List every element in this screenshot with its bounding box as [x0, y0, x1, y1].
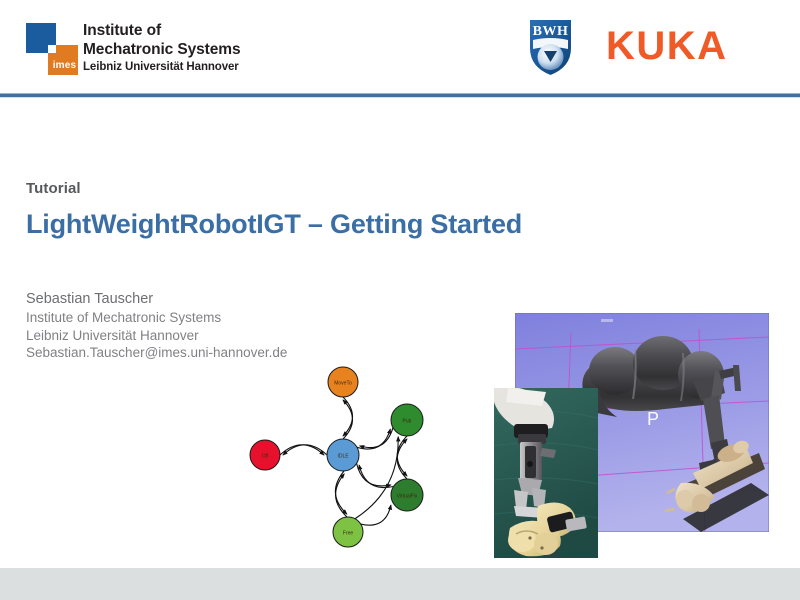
slide-header: imes Institute of Mechatronic Systems Le… [0, 0, 800, 95]
bwh-label: BWH [527, 24, 574, 40]
state-node-off: Off [250, 440, 280, 470]
state-edge [336, 474, 347, 517]
state-edge [343, 400, 352, 439]
state-node-label: IDLE [337, 453, 349, 459]
surgery-photo [494, 388, 598, 558]
state-transition-diagram: MoveToOffIDLEPubVirtualFixFree [243, 362, 465, 562]
state-node-label: VirtualFix [397, 493, 418, 499]
state-graph-canvas: MoveToOffIDLEPubVirtualFixFree [243, 362, 465, 562]
imes-line-3: Leibniz Universität Hannover [83, 59, 258, 75]
state-node-label: Free [343, 530, 354, 536]
state-edge [357, 463, 391, 486]
state-node-moveto: MoveTo [328, 367, 358, 397]
slide-title: LightWeightRobotIGT – Getting Started [26, 209, 522, 240]
state-edge [283, 445, 327, 455]
state-edge [343, 397, 352, 436]
cad-top-tick [601, 319, 613, 322]
imes-notch-icon [48, 45, 56, 53]
kuka-logo: KUKA [606, 24, 728, 68]
author-name: Sebastian Tauscher [26, 289, 287, 309]
author-affiliation: Institute of Mechatronic Systems [26, 309, 287, 327]
state-node-virtualfix: VirtualFix [391, 479, 423, 511]
state-node-label: MoveTo [334, 380, 352, 386]
state-edge [355, 437, 398, 519]
state-edge [280, 445, 324, 455]
state-edge [360, 428, 393, 448]
imes-line-2: Mechatronic Systems [83, 40, 258, 59]
state-node-pub: Pub [391, 404, 423, 436]
imes-wordmark: imes [51, 59, 78, 73]
state-edge [397, 439, 407, 479]
state-node-label: Pub [403, 418, 412, 424]
author-email: Sebastian.Tauscher@imes.uni-hannover.de [26, 344, 287, 362]
bwh-logo: BWH [527, 16, 574, 78]
imes-logo: imes Institute of Mechatronic Systems Le… [26, 23, 236, 78]
surgery-photo-canvas [494, 388, 598, 558]
footer-band [0, 568, 800, 600]
author-block: Sebastian Tauscher Institute of Mechatro… [26, 289, 287, 362]
imes-logo-text: Institute of Mechatronic Systems Leibniz… [83, 21, 258, 75]
state-node-label: Off [262, 453, 269, 459]
slide-eyebrow: Tutorial [26, 180, 81, 197]
state-node-idle: IDLE [327, 439, 359, 471]
slide-root: imes Institute of Mechatronic Systems Le… [0, 0, 800, 600]
state-edge [361, 505, 391, 525]
state-node-free: Free [333, 517, 363, 547]
author-university: Leibniz Universität Hannover [26, 327, 287, 345]
header-divider [0, 93, 800, 98]
imes-line-1: Institute of [83, 21, 258, 40]
cad-label-p: P [647, 409, 659, 429]
